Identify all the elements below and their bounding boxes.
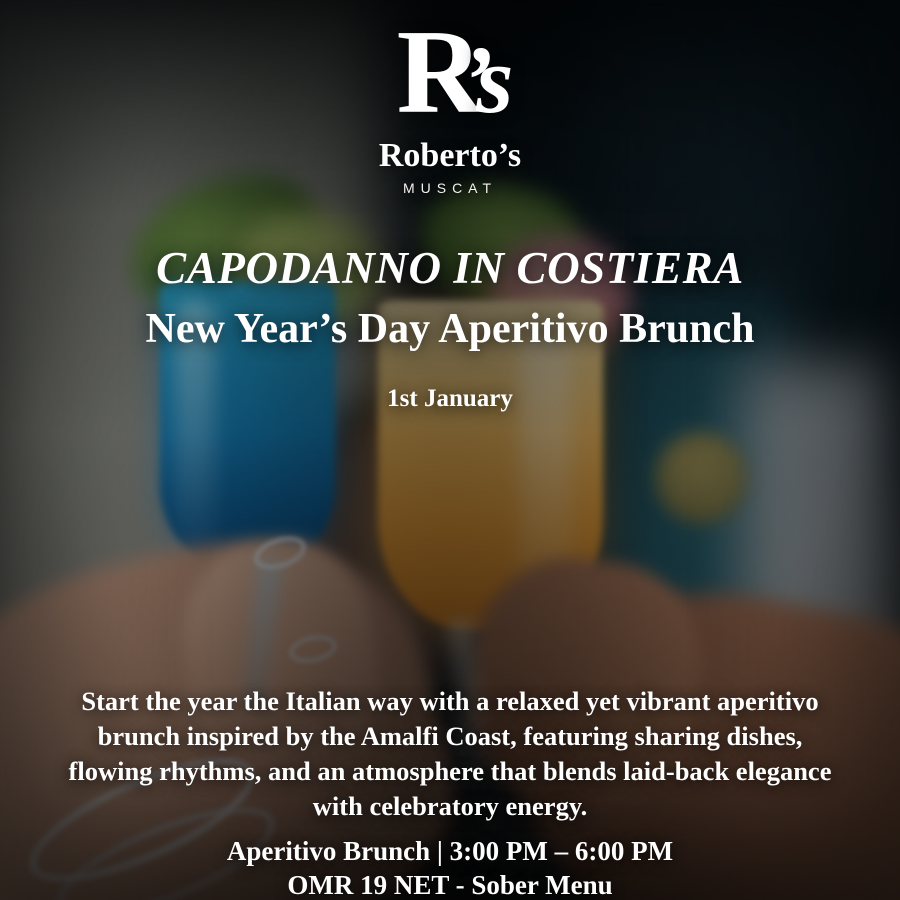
brand-name: Roberto’s <box>379 137 521 175</box>
event-date: 1st January <box>0 385 900 413</box>
poster-content: R’s Roberto’s MUSCAT CAPODANNO IN COSTIE… <box>0 0 900 900</box>
event-time-detail: Aperitivo Brunch | 3:00 PM – 6:00 PM <box>0 836 900 867</box>
brand-logo: R’s Roberto’s MUSCAT <box>0 16 900 196</box>
event-subtitle: New Year’s Day Aperitivo Brunch <box>0 305 900 353</box>
event-headline: CAPODANNO IN COSTIERA <box>0 242 900 294</box>
event-price-detail: OMR 19 NET - Sober Menu <box>0 870 900 900</box>
monogram-suffix: ’s <box>461 26 503 133</box>
promo-poster: R’s Roberto’s MUSCAT CAPODANNO IN COSTIE… <box>0 0 900 900</box>
brand-monogram-icon: R’s <box>397 16 504 129</box>
brand-location: MUSCAT <box>403 180 497 196</box>
event-description: Start the year the Italian way with a re… <box>58 684 842 824</box>
